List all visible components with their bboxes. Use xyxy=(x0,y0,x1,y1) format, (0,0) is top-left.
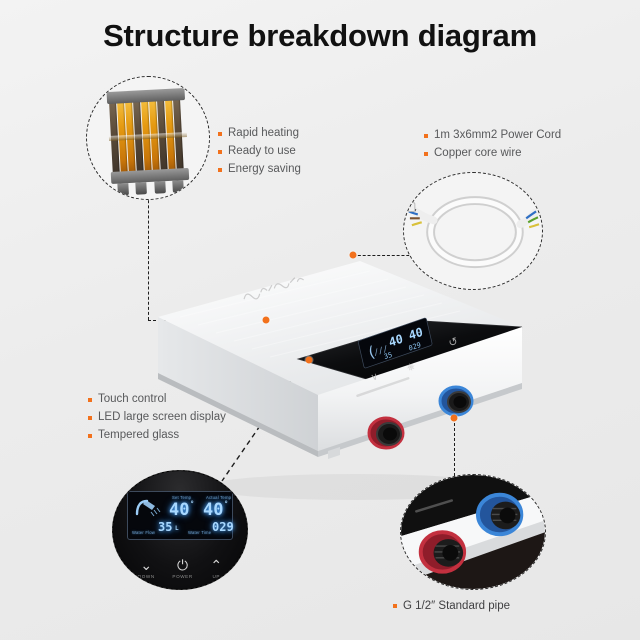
bullet-label: Ready to use xyxy=(228,144,296,159)
callout-heating-element: Rapid heating Ready to use Energy saving xyxy=(218,126,301,180)
up-button[interactable]: ⌃ UP xyxy=(210,559,222,579)
actual-temp-unit: ° xyxy=(224,500,228,508)
chevron-up-icon: ⌃ xyxy=(210,559,222,572)
hot-port-closeup xyxy=(421,532,464,571)
diagram-canvas: Structure breakdown diagram xyxy=(0,0,640,640)
bullet-marker-icon xyxy=(88,416,92,420)
bullet-label: Energy saving xyxy=(228,162,301,177)
bullet-marker-icon xyxy=(424,152,428,156)
bullet-label: 1m 3x6mm2 Power Cord xyxy=(434,128,561,143)
detail-circle-led-display: Set Temp 40 ° Actual Temp 40 ° Water Flo… xyxy=(112,470,248,590)
callout-control-panel: Touch control LED large screen display T… xyxy=(88,392,226,446)
water-heater-device: ( /// 40 40 35 029 ↺ ⎈ ∨ xyxy=(150,255,530,505)
bullet-item: Tempered glass xyxy=(88,428,226,443)
bullet-item: Rapid heating xyxy=(218,126,301,141)
water-time-label: Water Time xyxy=(188,530,211,535)
page-title: Structure breakdown diagram xyxy=(0,18,640,54)
water-time-value: 029 xyxy=(212,520,234,534)
down-button[interactable]: ⌄ DOWN xyxy=(138,559,155,579)
cold-port-closeup xyxy=(478,495,521,534)
up-button-label: UP xyxy=(210,574,222,579)
bullet-item: Copper core wire xyxy=(424,146,561,161)
bullet-item: Energy saving xyxy=(218,162,301,177)
water-flow-label: Water Flow xyxy=(132,530,155,535)
water-flow-value: 35 xyxy=(158,520,172,534)
bullet-label: Tempered glass xyxy=(98,428,179,443)
bullet-marker-icon xyxy=(393,604,397,608)
detail-circle-heating-element xyxy=(86,76,210,200)
bullet-label: Rapid heating xyxy=(228,126,299,141)
bullet-marker-icon xyxy=(88,434,92,438)
bullet-marker-icon xyxy=(88,398,92,402)
shower-icon xyxy=(133,498,163,518)
bullet-marker-icon xyxy=(218,168,222,172)
bullet-item: LED large screen display xyxy=(88,410,226,425)
pipes-art xyxy=(401,475,545,589)
hotspot-pipes[interactable] xyxy=(451,415,458,422)
bullet-label: Copper core wire xyxy=(434,146,522,161)
heating-element-art xyxy=(109,88,188,188)
actual-temp-value: 40 xyxy=(203,500,223,520)
bullet-label: LED large screen display xyxy=(98,410,226,425)
chevron-down-icon: ⌄ xyxy=(138,559,155,572)
bullet-marker-icon xyxy=(424,134,428,138)
bullet-item: Ready to use xyxy=(218,144,301,159)
set-temp-unit: ° xyxy=(190,500,194,508)
hot-water-port xyxy=(369,418,403,448)
bullet-marker-icon xyxy=(218,150,222,154)
bullet-item: Touch control xyxy=(88,392,226,407)
power-button[interactable]: ⏻ POWER xyxy=(172,559,192,579)
bullet-marker-icon xyxy=(218,132,222,136)
hotspot-power-cord[interactable] xyxy=(350,252,357,259)
water-flow-unit: L xyxy=(175,525,179,532)
set-temp-value: 40 xyxy=(169,500,189,520)
led-display-art: Set Temp 40 ° Actual Temp 40 ° Water Flo… xyxy=(113,471,247,589)
callout-power-cord: 1m 3x6mm2 Power Cord Copper core wire xyxy=(424,128,561,164)
leader-line-heating-vertical xyxy=(148,180,149,320)
hotspot-heating-element[interactable] xyxy=(263,317,270,324)
down-button-label: DOWN xyxy=(138,574,155,579)
led-screen: Set Temp 40 ° Actual Temp 40 ° Water Flo… xyxy=(127,491,233,540)
hotspot-control-panel[interactable] xyxy=(306,357,313,364)
power-icon: ⏻ xyxy=(172,559,192,572)
callout-pipes: G 1/2″ Standard pipe xyxy=(393,600,510,612)
pipes-caption-label: G 1/2″ Standard pipe xyxy=(403,600,510,612)
bullet-label: Touch control xyxy=(98,392,166,407)
led-button-row: ⌄ DOWN ⏻ POWER ⌃ UP xyxy=(113,559,247,579)
power-button-label: POWER xyxy=(172,574,192,579)
cold-water-port xyxy=(440,387,472,415)
bullet-item: 1m 3x6mm2 Power Cord xyxy=(424,128,561,143)
detail-circle-pipes xyxy=(400,474,546,590)
